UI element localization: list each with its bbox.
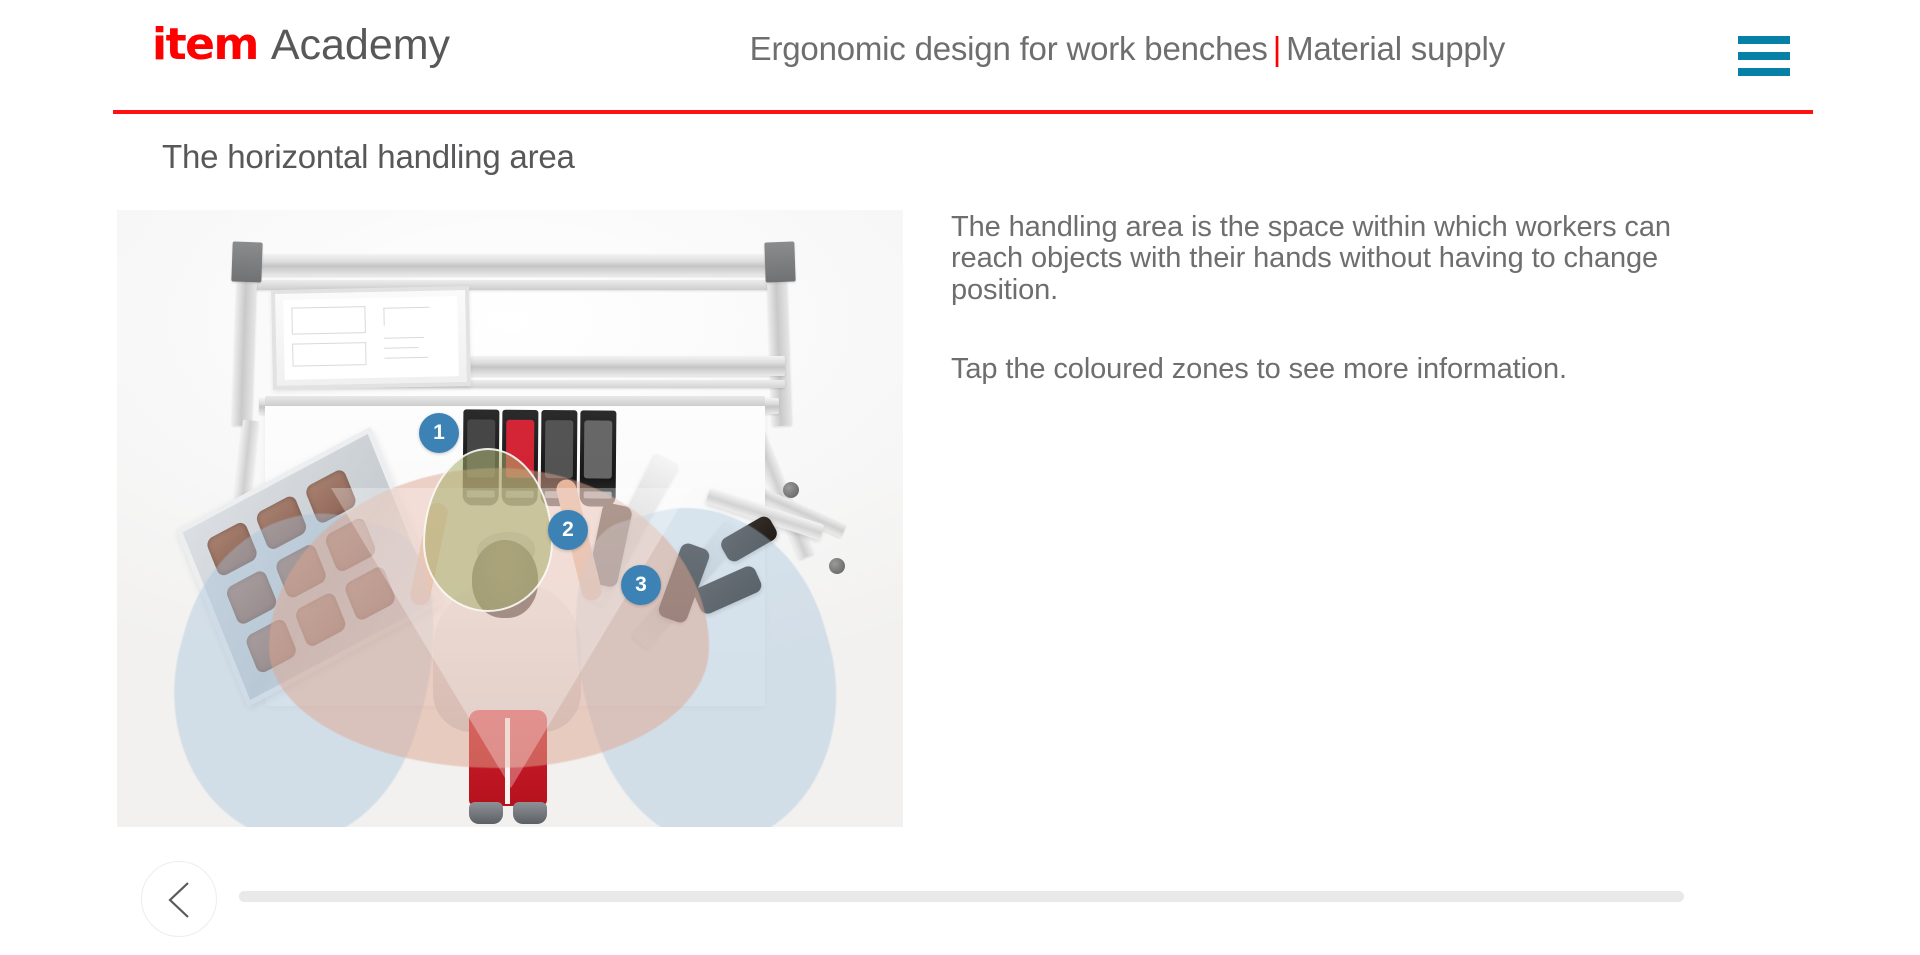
bench-cap-right: [764, 241, 795, 282]
zone-marker-2[interactable]: 2: [548, 510, 588, 550]
brand-logo[interactable]: item Academy: [152, 23, 450, 67]
description-panel: The handling area is the space within wh…: [951, 212, 1671, 385]
parts-bin: [463, 409, 500, 505]
brand-name-academy: Academy: [271, 24, 450, 67]
page-header: item Academy Ergonomic design for work b…: [0, 0, 1920, 116]
parts-bin: [580, 410, 617, 506]
description-paragraph-2: Tap the coloured zones to see more infor…: [951, 354, 1671, 385]
hamburger-bar-1: [1738, 36, 1790, 44]
description-paragraph-1: The handling area is the space within wh…: [951, 212, 1671, 306]
bench-joint-right-upper: [783, 482, 799, 498]
illustration-scene: 1 2 3: [117, 210, 903, 827]
bench-upper-beam: [245, 254, 785, 276]
worker-leg-gap: [505, 718, 510, 804]
header-divider-rule: [113, 110, 1813, 114]
technical-drawing-sheet: [283, 296, 459, 380]
document-holder: [271, 286, 471, 390]
chevron-left-icon: [162, 879, 198, 921]
course-title-separator: |: [1268, 30, 1286, 67]
worker-head: [472, 540, 538, 618]
zone-marker-3[interactable]: 3: [621, 565, 661, 605]
brand-name-item: item: [152, 23, 258, 67]
parts-bin: [502, 410, 539, 506]
handling-area-illustration[interactable]: 1 2 3: [117, 210, 903, 827]
course-title-main: Ergonomic design for work benches: [750, 30, 1268, 67]
parts-bins-row: [463, 409, 617, 506]
page-title: The horizontal handling area: [162, 138, 575, 176]
hamburger-bar-3: [1738, 68, 1790, 76]
worker-shoe-right: [513, 802, 547, 824]
bench-cap-left: [231, 241, 262, 282]
previous-slide-button[interactable]: [141, 861, 217, 937]
course-title-section: Material supply: [1286, 30, 1505, 67]
bench-joint-right-lower: [829, 558, 845, 574]
progress-scrollbar-thumb[interactable]: [239, 891, 1684, 902]
zone-marker-1[interactable]: 1: [419, 413, 459, 453]
hamburger-bar-2: [1738, 52, 1790, 60]
course-title: Ergonomic design for work benches|Materi…: [750, 30, 1505, 68]
worker-shoe-left: [469, 802, 503, 824]
progress-scrollbar-track[interactable]: [239, 891, 1684, 902]
hamburger-menu-icon[interactable]: [1738, 36, 1790, 76]
